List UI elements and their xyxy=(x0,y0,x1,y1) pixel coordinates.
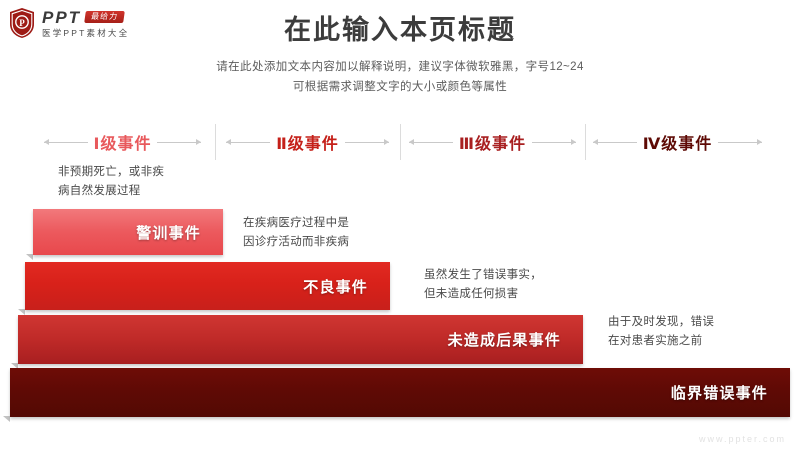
description-3-line-1: 虽然发生了错误事实， xyxy=(424,266,599,285)
level-header-1[interactable]: Ⅰ级事件 xyxy=(30,122,215,162)
stair-bar-2[interactable]: 不良事件 xyxy=(25,262,390,310)
description-2-line-2: 因诊疗活动而非疾病 xyxy=(243,233,418,252)
fold-corner-icon xyxy=(26,254,33,260)
level-header-2[interactable]: Ⅱ级事件 xyxy=(215,122,400,162)
title-block: 在此输入本页标题 请在此处添加文本内容加以解释说明，建议字体微软雅黑，字号12~… xyxy=(0,14,800,97)
level-header-row: Ⅰ级事件 Ⅱ级事件 Ⅲ级事件 Ⅳ级事件 xyxy=(30,122,770,162)
arrow-right-icon xyxy=(718,138,762,147)
arrow-left-icon xyxy=(226,138,270,147)
arrow-left-icon xyxy=(593,138,637,147)
description-1: 非预期死亡，或非疾 病自然发展过程 xyxy=(58,163,233,201)
stair-bar-1-label: 警训事件 xyxy=(136,222,223,243)
description-4-line-1: 由于及时发现，错误 xyxy=(608,313,783,332)
stair-bar-3[interactable]: 未造成后果事件 xyxy=(18,315,583,364)
level-header-4[interactable]: Ⅳ级事件 xyxy=(585,122,770,162)
level-label-1: Ⅰ级事件 xyxy=(94,130,152,154)
stair-bar-3-label: 未造成后果事件 xyxy=(448,329,583,350)
description-1-line-2: 病自然发展过程 xyxy=(58,182,233,201)
fold-corner-icon xyxy=(3,416,10,422)
arrow-left-icon xyxy=(409,138,453,147)
description-4-line-2: 在对患者实施之前 xyxy=(608,332,783,351)
description-2: 在疾病医疗过程中是 因诊疗活动而非疾病 xyxy=(243,214,418,252)
description-3: 虽然发生了错误事实， 但未造成任何损害 xyxy=(424,266,599,304)
level-header-3[interactable]: Ⅲ级事件 xyxy=(400,122,585,162)
stair-bar-4[interactable]: 临界错误事件 xyxy=(10,368,790,417)
level-label-3: Ⅲ级事件 xyxy=(459,130,526,154)
level-label-4: Ⅳ级事件 xyxy=(643,130,713,154)
arrow-right-icon xyxy=(157,138,201,147)
watermark: www.ppter.com xyxy=(699,434,786,444)
arrow-left-icon xyxy=(44,138,88,147)
subtitle-line-1: 请在此处添加文本内容加以解释说明，建议字体微软雅黑，字号12~24 xyxy=(0,57,800,77)
stair-bar-4-label: 临界错误事件 xyxy=(671,382,790,403)
page-title: 在此输入本页标题 xyxy=(0,14,800,48)
arrow-right-icon xyxy=(532,138,576,147)
description-2-line-1: 在疾病医疗过程中是 xyxy=(243,214,418,233)
subtitle-line-2: 可根据需求调整文字的大小或颜色等属性 xyxy=(0,77,800,97)
description-3-line-2: 但未造成任何损害 xyxy=(424,285,599,304)
level-label-2: Ⅱ级事件 xyxy=(276,130,339,154)
stair-bar-1[interactable]: 警训事件 xyxy=(33,209,223,255)
description-1-line-1: 非预期死亡，或非疾 xyxy=(58,163,233,182)
stair-bar-2-label: 不良事件 xyxy=(303,276,390,297)
arrow-right-icon xyxy=(345,138,389,147)
description-4: 由于及时发现，错误 在对患者实施之前 xyxy=(608,313,783,351)
